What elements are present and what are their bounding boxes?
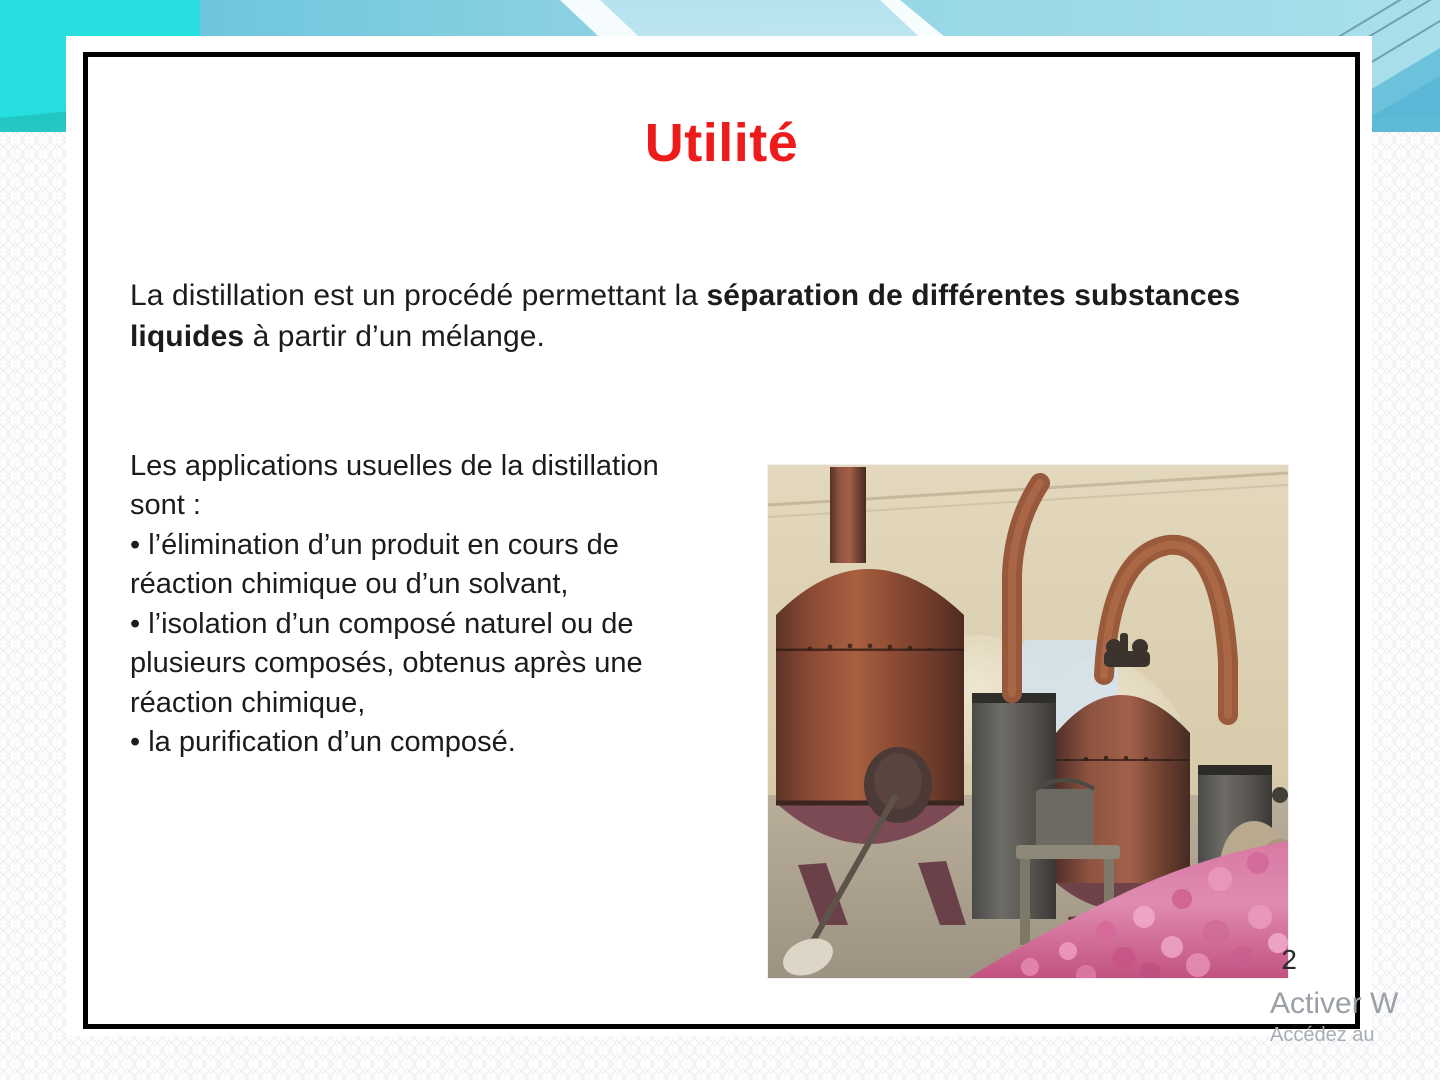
slide-stage: Utilité La distillation est un procédé p… <box>0 0 1440 1080</box>
intro-paragraph: La distillation est un procédé permettan… <box>130 275 1260 358</box>
intro-text-part1: La distillation est un procédé permettan… <box>130 279 707 312</box>
list-item: • l’élimination d’un produit en cours de… <box>130 526 700 605</box>
slide-body: Les applications usuelles de la distilla… <box>130 447 1320 987</box>
applications-list: Les applications usuelles de la distilla… <box>130 447 700 763</box>
page-title: Utilité <box>88 112 1355 174</box>
list-item: • l’isolation d’un composé naturel ou de… <box>130 605 700 723</box>
slide-content-frame: Utilité La distillation est un procédé p… <box>83 52 1360 1029</box>
intro-text-part2: à partir d’un mélange. <box>244 320 545 353</box>
applications-list-lead: Les applications usuelles de la distilla… <box>130 447 700 526</box>
list-item: • la purification d’un composé. <box>130 723 700 762</box>
page-number: 2 <box>1281 944 1297 976</box>
distillation-photo <box>768 465 1288 978</box>
